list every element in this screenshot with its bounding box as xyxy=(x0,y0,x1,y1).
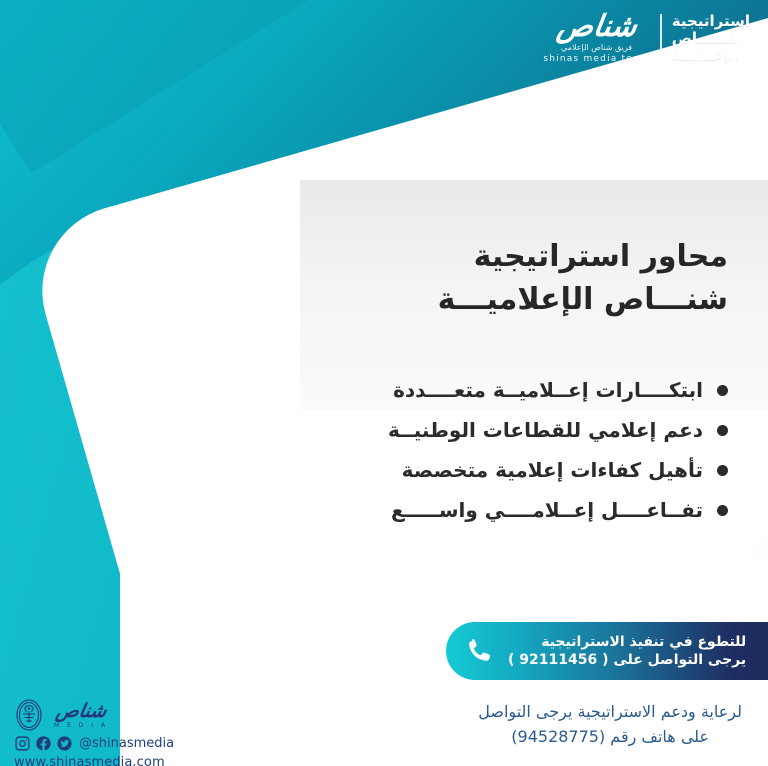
bullet-dot-icon xyxy=(717,505,728,516)
strategy-pillars-list: ابتكــــارات إعــلاميــة متعــــددة دعم … xyxy=(388,378,728,522)
header-logo: استراتيجية شنــــاص الإعلاميـة شناص فريق… xyxy=(543,12,750,65)
volunteer-cta-line-1: للتطوع في تنفيذ الاستراتيجية xyxy=(541,633,746,651)
header-brand-line-3: الإعلاميـة xyxy=(672,47,740,64)
header-logo-divider xyxy=(660,14,662,62)
header-logo-mark: شناص فريق شناص الإعلامي shinas media tea… xyxy=(543,12,649,65)
page-title-line-1: محاور استراتيجية xyxy=(438,236,728,279)
list-item-label: تأهيل كفاءات إعلامية متخصصة xyxy=(402,458,703,482)
sponsorship-note-line-2: على هاتف رقم (94528775) xyxy=(478,725,742,750)
volunteer-cta-text: للتطوع في تنفيذ الاستراتيجية يرجى التواص… xyxy=(508,633,746,669)
footer-brand-script-en: M E D I A xyxy=(54,723,108,729)
header-logo-subtitle-ar: فريق شناص الإعلامي xyxy=(561,44,632,52)
header-brand-line-1: استراتيجية xyxy=(672,13,750,30)
list-item: دعم إعلامي للقطاعات الوطنيــة xyxy=(388,418,728,442)
twitter-icon[interactable] xyxy=(56,735,73,752)
list-item-label: دعم إعلامي للقطاعات الوطنيــة xyxy=(388,418,703,442)
instagram-icon[interactable] xyxy=(14,735,31,752)
footer-brand-script: شناص xyxy=(54,702,108,721)
website-url[interactable]: www.shinasmedia.com xyxy=(14,755,174,766)
footer: شناص M E D I A @shinasmedia www xyxy=(14,698,174,766)
list-item-label: تفــاعــــل إعــلامــــي واســـــع xyxy=(391,498,703,522)
list-item-label: ابتكــــارات إعــلاميــة متعــــددة xyxy=(393,378,703,402)
list-item: تفــاعــــل إعــلامــــي واســـــع xyxy=(388,498,728,522)
oman-emblem-icon xyxy=(14,698,44,732)
header-logo-subtitle-en: shinas media team xyxy=(543,54,649,65)
header-brand-text: استراتيجية شنــــاص الإعلاميـة xyxy=(672,13,750,63)
poster-canvas: استراتيجية شنــــاص الإعلاميـة شناص فريق… xyxy=(0,0,768,766)
bullet-dot-icon xyxy=(717,465,728,476)
header-brand-line-2: شنــــاص xyxy=(672,30,739,47)
sponsorship-note: لرعاية ودعم الاستراتيجية يرجى التواصل عل… xyxy=(478,700,742,750)
bullet-dot-icon xyxy=(717,425,728,436)
facebook-icon[interactable] xyxy=(35,735,52,752)
header-logo-script: شناص xyxy=(555,12,639,42)
list-item: ابتكــــارات إعــلاميــة متعــــددة xyxy=(388,378,728,402)
phone-icon xyxy=(462,634,496,668)
page-title-line-2: شنـــاص الإعلاميـــة xyxy=(438,279,728,322)
volunteer-cta-banner[interactable]: للتطوع في تنفيذ الاستراتيجية يرجى التواص… xyxy=(446,622,768,680)
footer-brand-logo: شناص M E D I A xyxy=(54,702,108,729)
social-links: @shinasmedia xyxy=(14,735,174,752)
bullet-dot-icon xyxy=(717,385,728,396)
volunteer-cta-line-2: يرجى التواصل على ( 92111456 ) xyxy=(508,651,746,669)
list-item: تأهيل كفاءات إعلامية متخصصة xyxy=(388,458,728,482)
page-title: محاور استراتيجية شنـــاص الإعلاميـــة xyxy=(438,236,728,321)
footer-logos: شناص M E D I A xyxy=(14,698,174,732)
social-handle[interactable]: @shinasmedia xyxy=(79,736,174,751)
sponsorship-note-line-1: لرعاية ودعم الاستراتيجية يرجى التواصل xyxy=(478,700,742,725)
